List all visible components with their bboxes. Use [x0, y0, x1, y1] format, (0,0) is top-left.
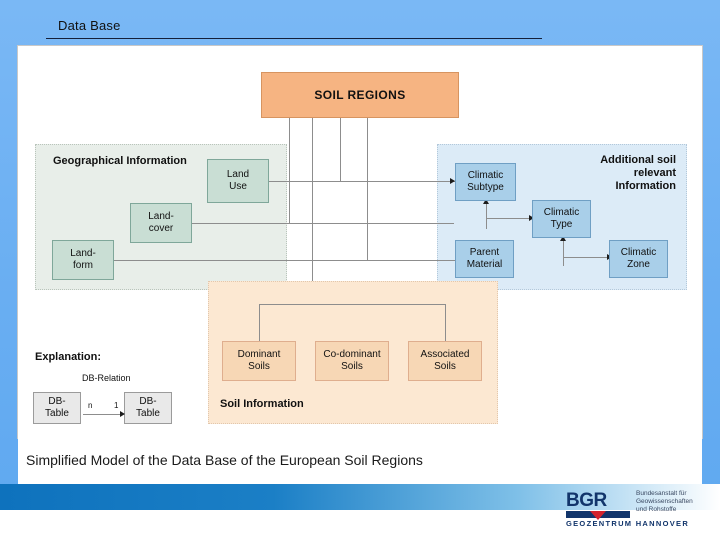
legend-db-table-right-line2: Table [136, 408, 160, 420]
node-parent-material[interactable]: Parent Material [455, 240, 514, 278]
bgr-logo-mark: BGR [566, 491, 630, 517]
bgr-logo-letters: BGR [566, 491, 630, 510]
connector-subtype-type-h [486, 218, 531, 219]
legend-db-table-left-line1: DB- [45, 396, 69, 408]
node-landcover[interactable]: Land- cover [130, 203, 192, 243]
panel-additional-title-line2: relevant Information [616, 167, 677, 192]
connector-landcover-h [192, 223, 454, 224]
panel-geographical-information-title: Geographical Information [53, 155, 187, 168]
title-underline [46, 38, 542, 39]
slide-caption: Simplified Model of the Data Base of the… [26, 452, 423, 468]
node-associated-soils-line1: Associated [421, 349, 470, 361]
slide-title: Data Base [58, 18, 121, 33]
node-landcover-line2: cover [148, 223, 174, 235]
legend-db-table-right: DB- Table [124, 392, 172, 424]
node-land-use-line2: Use [227, 181, 249, 193]
node-parent-material-line1: Parent [467, 247, 503, 259]
node-parent-material-line2: Material [467, 259, 503, 271]
node-climatic-zone[interactable]: Climatic Zone [609, 240, 668, 278]
connector-climatic-subtype-h [340, 181, 455, 182]
legend-relation-arrowhead [120, 411, 125, 417]
node-dominant-soils[interactable]: Dominant Soils [222, 341, 296, 381]
node-land-use[interactable]: Land Use [207, 159, 269, 203]
node-soil-regions[interactable]: SOIL REGIONS [261, 72, 459, 118]
db-relation-label: DB-Relation [82, 373, 131, 383]
bgr-subtitle-line3: und Rohstoffe [636, 506, 716, 514]
node-dominant-soils-line2: Soils [238, 361, 281, 373]
node-climatic-type-line2: Type [544, 219, 580, 231]
bgr-logo-subtitle: Bundesanstalt für Geowissenschaften und … [636, 490, 716, 514]
legend-db-table-left-line2: Table [45, 408, 69, 420]
legend-cardinality-one: 1 [114, 401, 118, 410]
node-climatic-type-line1: Climatic [544, 207, 580, 219]
node-climatic-type[interactable]: Climatic Type [532, 200, 591, 238]
node-dominant-soils-line1: Dominant [238, 349, 281, 361]
node-soil-regions-label: SOIL REGIONS [314, 89, 405, 101]
node-climatic-subtype-line2: Subtype [467, 182, 504, 194]
connector-subtype-type-v [486, 201, 487, 229]
node-codominant-soils-line1: Co-dominant [323, 349, 380, 361]
connector-type-zone-v [563, 238, 564, 266]
node-landform-line2: form [70, 260, 96, 272]
connector-soil-associated-v [445, 304, 446, 341]
panel-additional-title-line1: Additional soil [600, 154, 676, 166]
explanation-heading: Explanation: [35, 351, 101, 363]
panel-additional-soil-information-title: Additional soil relevant Information [584, 154, 676, 193]
node-climatic-subtype-line1: Climatic [467, 170, 504, 182]
node-climatic-zone-line2: Zone [621, 259, 657, 271]
node-landform[interactable]: Land- form [52, 240, 114, 280]
node-codominant-soils[interactable]: Co-dominant Soils [315, 341, 389, 381]
connector-soil-bracket-h [259, 304, 445, 305]
node-associated-soils-line2: Soils [421, 361, 470, 373]
bgr-subtitle-line2: Geowissenschaften [636, 498, 716, 506]
connector-soil-dominant-v [259, 304, 260, 341]
node-landform-line1: Land- [70, 248, 96, 260]
connector-parent-material-h [367, 260, 455, 261]
bgr-logo: BGR Bundesanstalt für Geowissenschaften … [566, 489, 712, 529]
legend-db-table-left: DB- Table [33, 392, 81, 424]
presentation-slide: Data Base Geographical Information Addit… [0, 0, 720, 540]
node-climatic-zone-line1: Climatic [621, 247, 657, 259]
node-associated-soils[interactable]: Associated Soils [408, 341, 482, 381]
legend-relation-line [83, 414, 123, 415]
diagram-canvas: Geographical Information Additional soil… [18, 46, 702, 438]
connector-type-zone-h [563, 257, 609, 258]
node-landcover-line1: Land- [148, 211, 174, 223]
legend-db-table-right-line1: DB- [136, 396, 160, 408]
legend-cardinality-many: n [88, 401, 92, 410]
node-climatic-subtype[interactable]: Climatic Subtype [455, 163, 516, 201]
bgr-subtitle-line1: Bundesanstalt für [636, 490, 716, 498]
bgr-logo-tagline: GEOZENTRUM HANNOVER [566, 519, 689, 528]
node-codominant-soils-line2: Soils [323, 361, 380, 373]
panel-soil-information-title: Soil Information [220, 398, 304, 411]
node-land-use-line1: Land [227, 169, 249, 181]
